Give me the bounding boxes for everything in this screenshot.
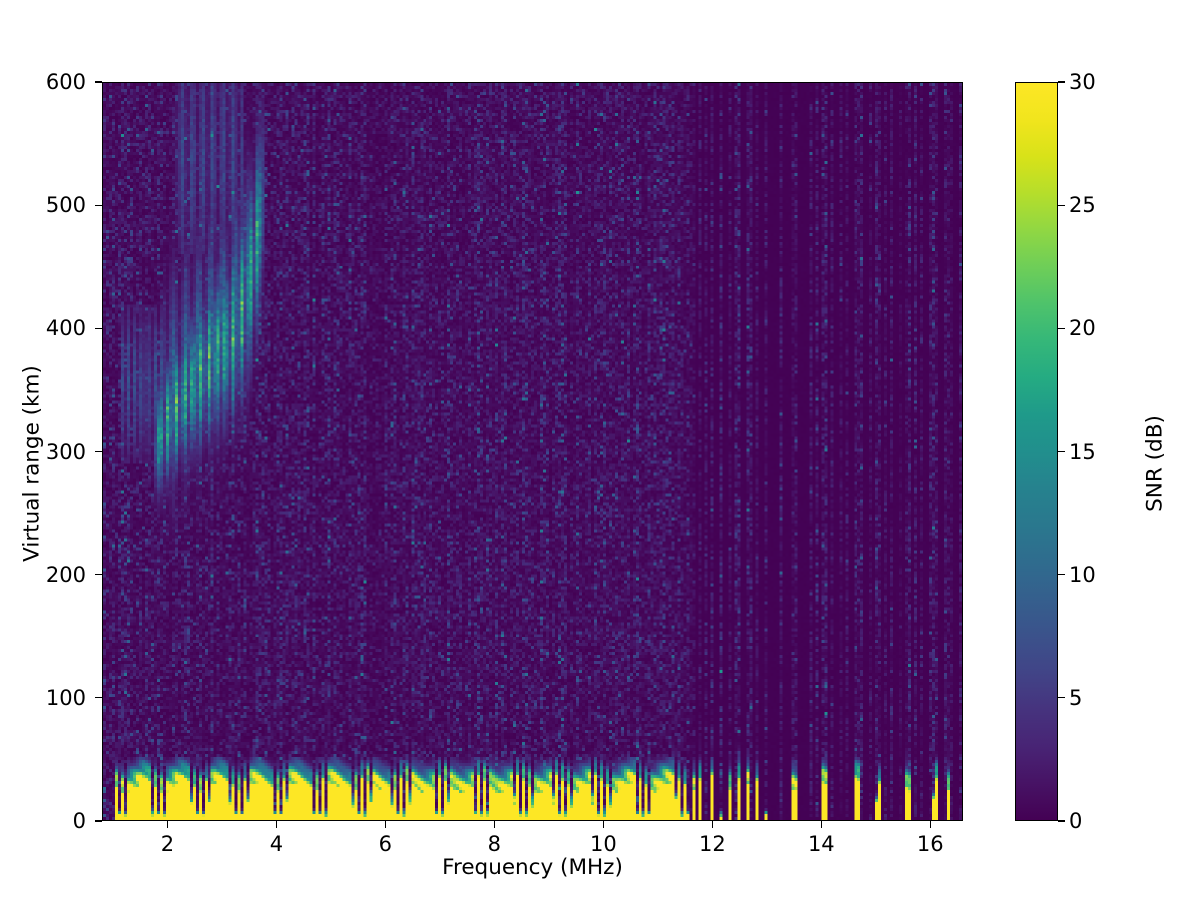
tick-mark — [1058, 697, 1065, 698]
y-axis-label: Virtual range (km) — [20, 314, 45, 614]
x-axis-label: Frequency (MHz) — [102, 855, 963, 880]
tick-mark — [1058, 451, 1065, 452]
tick-mark — [1058, 820, 1065, 821]
ionogram-figure: IRF Kiruna Ionosonde KI167 2026-03-19 01… — [0, 0, 1200, 900]
tick-mark — [821, 821, 822, 828]
colorbar-tick-label: 15 — [1069, 440, 1096, 464]
tick-mark — [276, 821, 277, 828]
tick-mark — [95, 697, 102, 698]
x-tick-label: 16 — [917, 832, 944, 856]
tick-mark — [494, 821, 495, 828]
tick-mark — [95, 451, 102, 452]
tick-mark — [385, 821, 386, 828]
x-tick-label: 12 — [699, 832, 726, 856]
x-tick-label: 2 — [161, 832, 174, 856]
x-tick-label: 6 — [379, 832, 392, 856]
tick-mark — [95, 820, 102, 821]
tick-mark — [930, 821, 931, 828]
tick-mark — [712, 821, 713, 828]
plot-area — [102, 82, 963, 821]
y-tick-label: 0 — [14, 809, 86, 833]
colorbar-label: SNR (dB) — [1143, 314, 1168, 614]
y-tick-label: 100 — [14, 686, 86, 710]
x-tick-label: 4 — [270, 832, 283, 856]
colorbar-tick-label: 10 — [1069, 563, 1096, 587]
colorbar-tick-label: 0 — [1069, 809, 1082, 833]
tick-mark — [167, 821, 168, 828]
x-tick-label: 10 — [590, 832, 617, 856]
colorbar-tick-label: 25 — [1069, 193, 1096, 217]
x-tick-label: 14 — [808, 832, 835, 856]
colorbar-tick-label: 30 — [1069, 70, 1096, 94]
tick-mark — [95, 328, 102, 329]
tick-mark — [95, 574, 102, 575]
colorbar — [1015, 82, 1058, 821]
ionogram-heatmap — [103, 83, 962, 820]
tick-mark — [603, 821, 604, 828]
colorbar-tick-label: 5 — [1069, 686, 1082, 710]
tick-mark — [1058, 328, 1065, 329]
tick-mark — [1058, 574, 1065, 575]
colorbar-tick-label: 20 — [1069, 316, 1096, 340]
x-tick-label: 8 — [488, 832, 501, 856]
